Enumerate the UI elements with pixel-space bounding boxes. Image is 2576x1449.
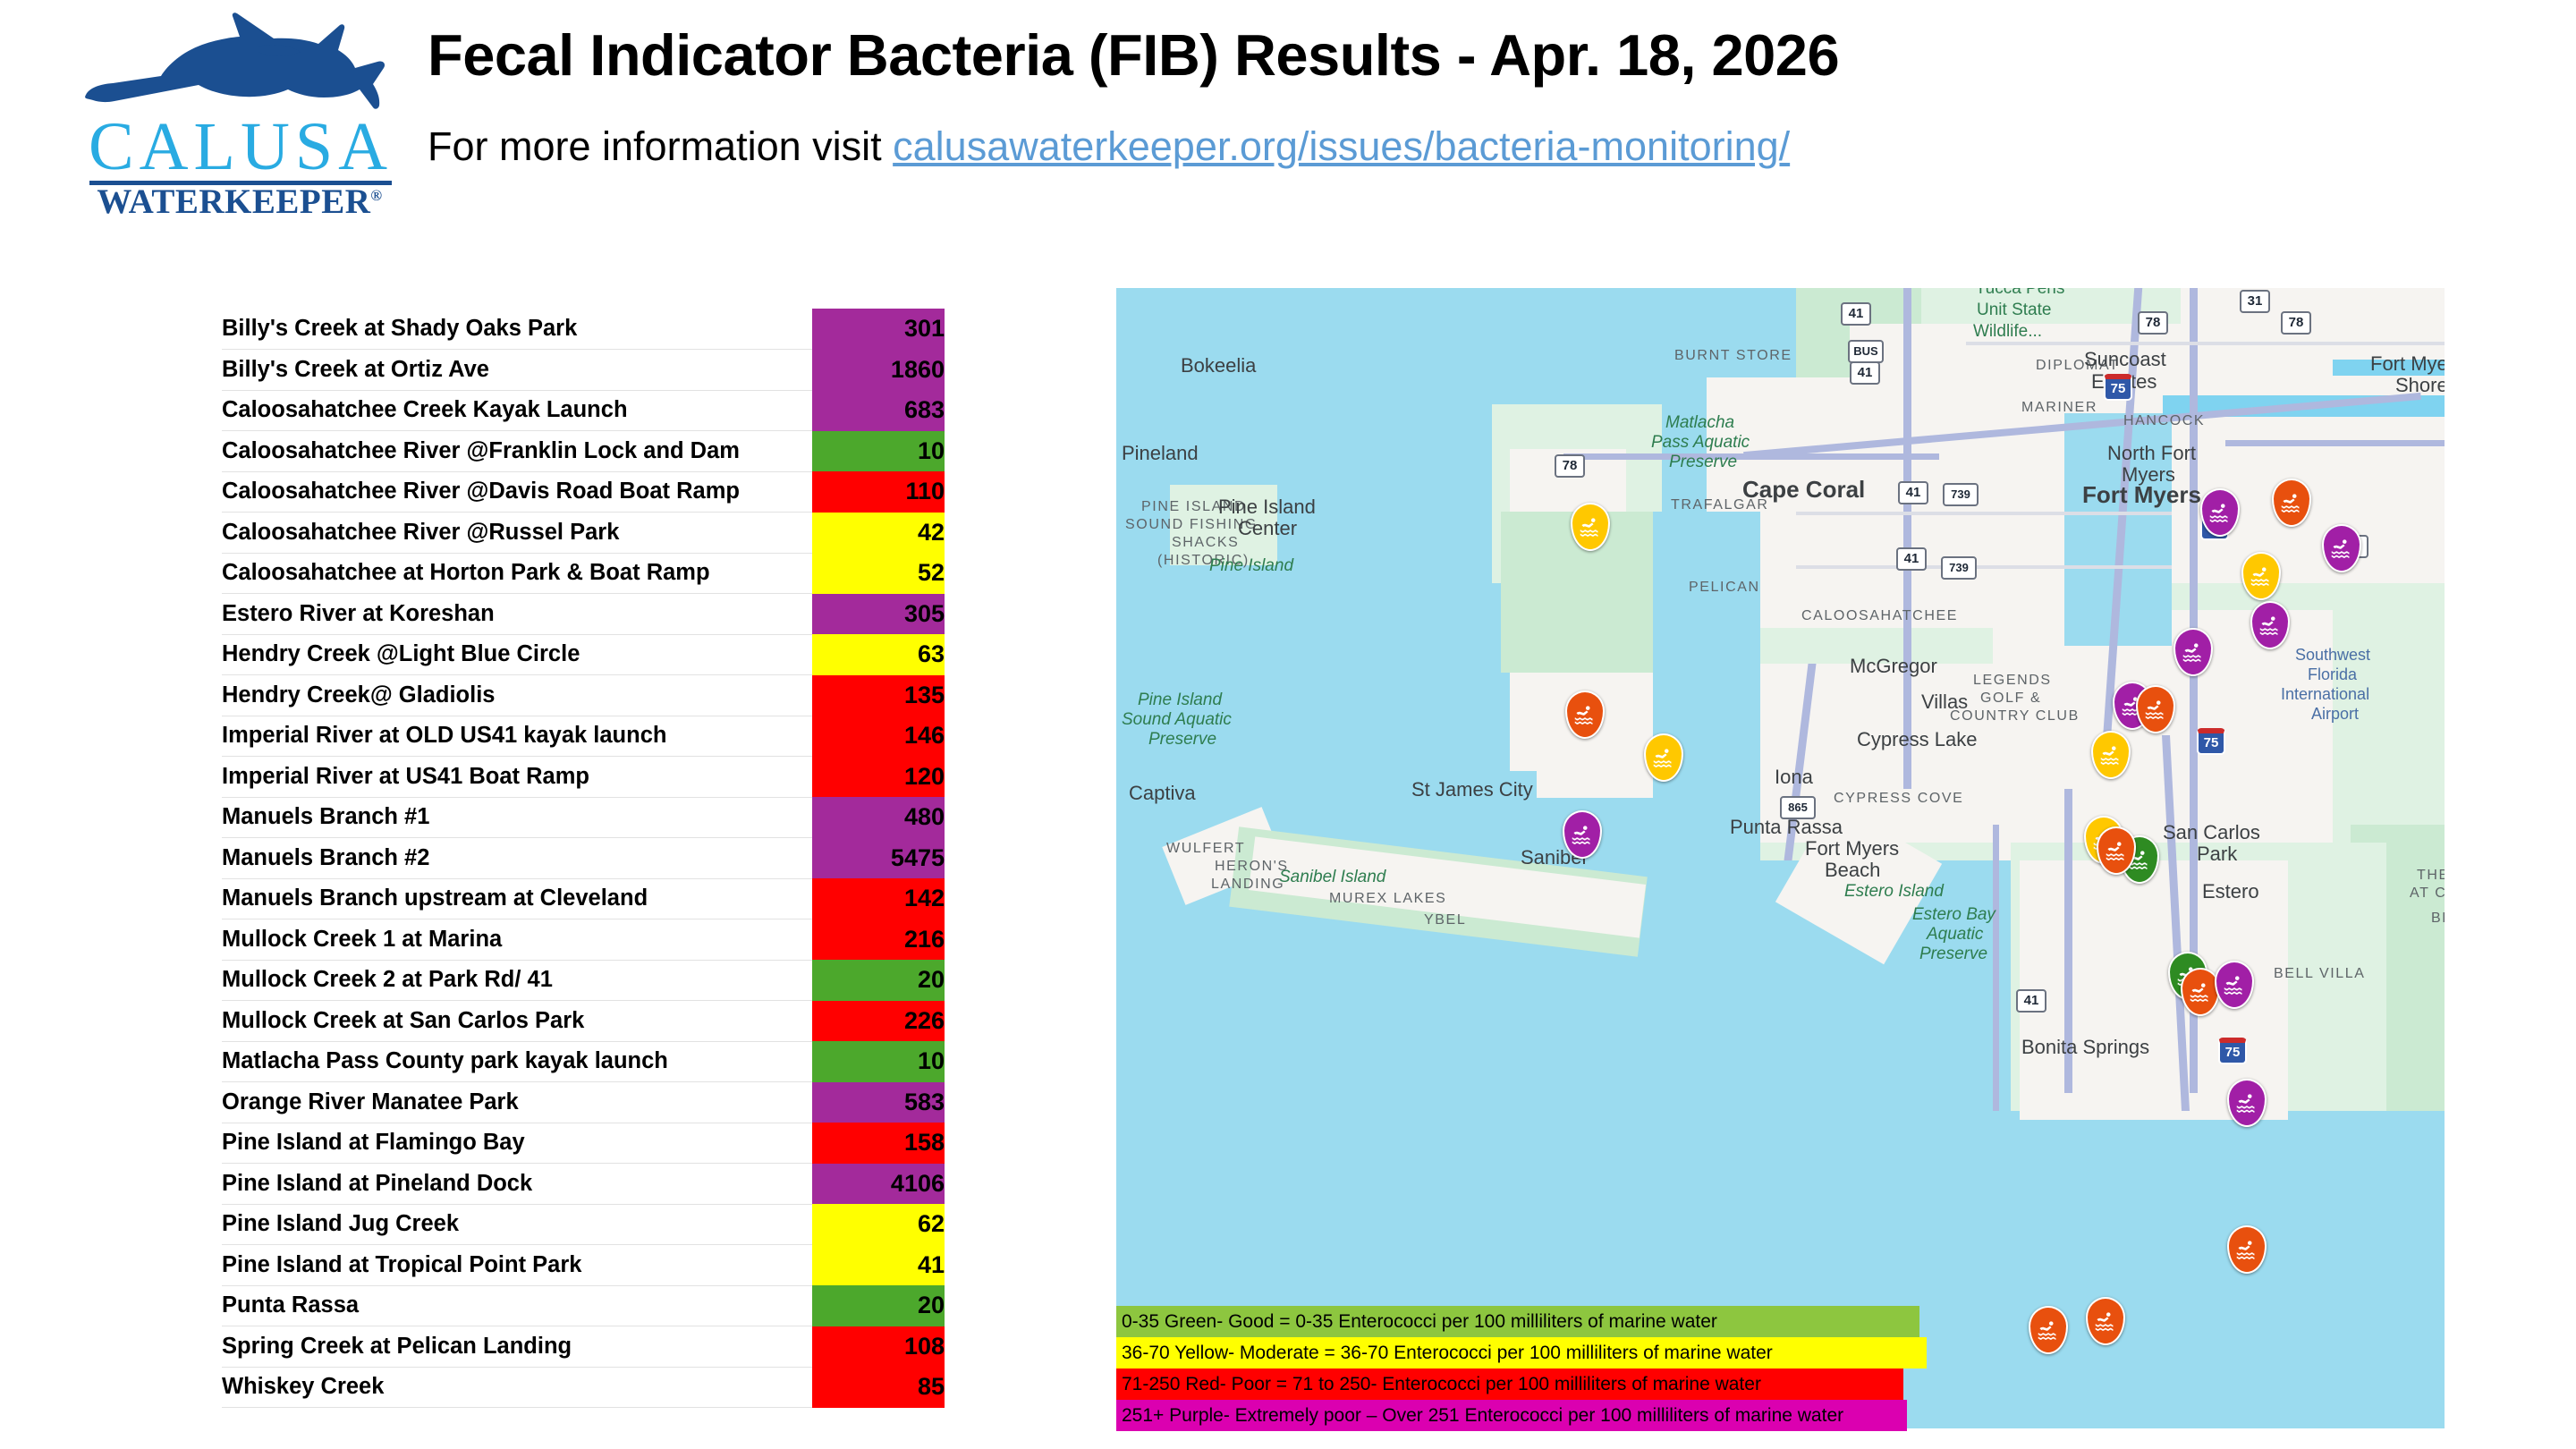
site-value: 120 — [812, 757, 945, 798]
legend-range: 36-70 — [1122, 1343, 1174, 1363]
site-name: Pine Island at Pineland Dock — [222, 1164, 812, 1205]
fib-results-table: Billy's Creek at Shady Oaks Park301Billy… — [222, 309, 945, 1408]
site-name: Punta Rassa — [222, 1285, 812, 1326]
table-row: Caloosahatchee River @Franklin Lock and … — [222, 431, 945, 472]
highway-shield-icon: 41 — [1898, 481, 1928, 504]
table-row: Billy's Creek at Shady Oaks Park301 — [222, 309, 945, 350]
table-row: Orange River Manatee Park583 — [222, 1082, 945, 1123]
map-label: Preserve — [1148, 730, 1216, 750]
site-name: Mullock Creek 2 at Park Rd/ 41 — [222, 960, 812, 1001]
site-value: 20 — [812, 960, 945, 1001]
site-name: Manuels Branch upstream at Cleveland — [222, 878, 812, 919]
site-value: 216 — [812, 919, 945, 961]
legend-range: 251+ — [1122, 1405, 1169, 1426]
map-label: Matlacha — [1665, 413, 1734, 433]
map-label: Wildlife... — [1973, 322, 2042, 342]
highway-shield-icon: 75 — [2218, 1038, 2247, 1064]
table-row: Hendry Creek @Light Blue Circle63 — [222, 634, 945, 675]
site-value: 683 — [812, 390, 945, 431]
site-name: Caloosahatchee Creek Kayak Launch — [222, 390, 812, 431]
map-label: THE PRESERVE — [2417, 868, 2445, 884]
map-label: Suncoast — [2084, 348, 2166, 371]
map-label: CYPRESS COVE — [1834, 791, 1963, 807]
map-label: BELLA TERRA — [2431, 911, 2445, 927]
map-label: SHACKS — [1172, 535, 1239, 551]
site-name: Billy's Creek at Shady Oaks Park — [222, 309, 812, 350]
site-name: Caloosahatchee River @Russel Park — [222, 513, 812, 554]
map-label: MUREX LAKES — [1329, 891, 1446, 907]
map-label: Pine Island — [1218, 496, 1316, 519]
site-name: Pine Island at Flamingo Bay — [222, 1123, 812, 1164]
map-label: Center — [1238, 517, 1297, 540]
table-row: Pine Island at Pineland Dock4106 — [222, 1164, 945, 1205]
map-label: GOLF & — [1980, 691, 2041, 707]
map-label: Southwest — [2295, 646, 2370, 665]
highway-shield-icon: 75 — [2197, 728, 2225, 755]
site-value: 583 — [812, 1082, 945, 1123]
legend-text: Purple- Extremely poor – Over 251 Entero… — [1169, 1405, 1843, 1426]
legend-text: Green- Good = 0-35 Enterococci per 100 m… — [1165, 1311, 1717, 1332]
table-row: Matlacha Pass County park kayak launch10 — [222, 1041, 945, 1082]
table-row: Billy's Creek at Ortiz Ave1860 — [222, 350, 945, 391]
site-value: 5475 — [812, 838, 945, 879]
page-header: CALUSA WATERKEEPER® Fecal Indicator Bact… — [0, 0, 2576, 224]
legend-row: 251+ Purple- Extremely poor – Over 251 E… — [1116, 1400, 1907, 1431]
highway-shield-icon: 41 — [1850, 361, 1880, 385]
registered-mark: ® — [370, 187, 382, 204]
table-row: Mullock Creek 2 at Park Rd/ 4120 — [222, 960, 945, 1001]
map-label: San Carlos — [2163, 821, 2260, 844]
map-label: TRAFALGAR — [1671, 497, 1769, 513]
logo-waterkeeper-text: WATERKEEPER® — [82, 184, 397, 219]
legend-text: Yellow- Moderate = 36-70 Enterococci per… — [1174, 1343, 1773, 1363]
site-value: 301 — [812, 309, 945, 350]
highway-shield-icon: 78 — [2138, 311, 2168, 335]
map-label: International — [2281, 685, 2369, 704]
map-label: Fort Myers — [2370, 352, 2445, 376]
site-value: 63 — [812, 634, 945, 675]
map-marker-purple[interactable] — [1563, 810, 1602, 859]
table-row: Caloosahatchee River @Davis Road Boat Ra… — [222, 471, 945, 513]
site-name: Orange River Manatee Park — [222, 1082, 812, 1123]
table-row: Hendry Creek@ Gladiolis135 — [222, 675, 945, 716]
site-name: Manuels Branch #2 — [222, 838, 812, 879]
map-label: COUNTRY CLUB — [1950, 708, 2080, 724]
table-row: Caloosahatchee Creek Kayak Launch683 — [222, 390, 945, 431]
page-title: Fecal Indicator Bacteria (FIB) Results -… — [428, 21, 1839, 89]
site-value: 146 — [812, 716, 945, 757]
site-name: Mullock Creek at San Carlos Park — [222, 1001, 812, 1042]
map-label: HERON'S — [1215, 859, 1289, 875]
map-label: Estero Island — [1844, 882, 1944, 902]
map-label: Yucca Pens — [1975, 288, 2064, 299]
highway-shield-icon: 41 — [1841, 302, 1871, 326]
highway-shield-icon: 31 — [2240, 290, 2270, 313]
map-label: Preserve — [1919, 945, 1987, 964]
site-name: Spring Creek at Pelican Landing — [222, 1326, 812, 1368]
table-row: Pine Island Jug Creek62 — [222, 1204, 945, 1245]
map-label: Estero Bay — [1912, 905, 1996, 925]
site-name: Imperial River at OLD US41 kayak launch — [222, 716, 812, 757]
map-label: Preserve — [1669, 453, 1737, 472]
legend-row: 71-250 Red- Poor = 71 to 250- Enterococc… — [1116, 1368, 1903, 1400]
map-label: BURNT STORE — [1674, 348, 1792, 364]
map-label: HANCOCK — [2123, 413, 2205, 429]
map-label: North Fort — [2107, 442, 2196, 465]
map-label: Pass Aquatic — [1651, 433, 1750, 453]
subtitle-prefix: For more information visit — [428, 123, 893, 169]
map-label: St James City — [1411, 778, 1533, 801]
site-name: Billy's Creek at Ortiz Ave — [222, 350, 812, 391]
site-value: 41 — [812, 1245, 945, 1286]
legend-row: 36-70 Yellow- Moderate = 36-70 Enterococ… — [1116, 1337, 1927, 1368]
sampling-sites-map[interactable]: Yucca PensUnit StateWildlife...BURNT STO… — [1116, 288, 2445, 1428]
map-label: Florida — [2308, 665, 2357, 684]
highway-shield-icon: 739 — [1943, 483, 1979, 506]
map-marker-red[interactable] — [2086, 1297, 2125, 1345]
site-value: 135 — [812, 675, 945, 716]
table-row: Pine Island at Flamingo Bay158 — [222, 1123, 945, 1164]
site-value: 480 — [812, 797, 945, 838]
map-label: Pineland — [1122, 442, 1199, 465]
site-name: Whiskey Creek — [222, 1367, 812, 1408]
map-label: Estero — [2202, 880, 2259, 903]
map-label: AT CORKSCREW — [2410, 885, 2445, 902]
site-name: Mullock Creek 1 at Marina — [222, 919, 812, 961]
table-row: Mullock Creek at San Carlos Park226 — [222, 1001, 945, 1042]
map-marker-red[interactable] — [2227, 1225, 2267, 1274]
site-value: 108 — [812, 1326, 945, 1368]
legend-row: 0-35 Green- Good = 0-35 Enterococci per … — [1116, 1306, 1919, 1337]
site-value: 85 — [812, 1367, 945, 1408]
highway-shield-icon: 78 — [1555, 454, 1585, 478]
site-name: Manuels Branch #1 — [222, 797, 812, 838]
map-label: LEGENDS — [1973, 673, 2052, 689]
map-label: McGregor — [1850, 655, 1937, 678]
map-label: Pine Island — [1209, 556, 1293, 576]
logo-calusa-text: CALUSA — [84, 113, 397, 181]
map-label: Airport — [2311, 705, 2359, 724]
map-legend: 0-35 Green- Good = 0-35 Enterococci per … — [1116, 1306, 1927, 1431]
map-label: CALOOSAHATCHEE — [1801, 608, 1958, 624]
table-row: Whiskey Creek85 — [222, 1367, 945, 1408]
map-label: Captiva — [1129, 782, 1196, 805]
map-label: LANDING — [1211, 877, 1284, 893]
site-value: 1860 — [812, 350, 945, 391]
site-value: 52 — [812, 553, 945, 594]
map-label: Beach — [1825, 859, 1880, 882]
highway-shield-icon: 41 — [2016, 989, 2046, 1013]
site-name: Matlacha Pass County park kayak launch — [222, 1041, 812, 1082]
site-value: 62 — [812, 1204, 945, 1245]
subtitle: For more information visit calusawaterke… — [428, 123, 1790, 170]
calusa-waterkeeper-logo: CALUSA WATERKEEPER® — [64, 13, 415, 202]
table-row: Punta Rassa20 — [222, 1285, 945, 1326]
map-label: WULFERT — [1166, 841, 1245, 857]
map-label: Cypress Lake — [1857, 728, 1978, 751]
table-row: Pine Island at Tropical Point Park41 — [222, 1245, 945, 1286]
highway-shield-icon: 865 — [1780, 796, 1816, 819]
site-name: Pine Island at Tropical Point Park — [222, 1245, 812, 1286]
site-name: Estero River at Koreshan — [222, 594, 812, 635]
map-label: Fort Myers — [2082, 481, 2201, 509]
legend-range: 0-35 — [1122, 1311, 1165, 1332]
site-name: Caloosahatchee River @Franklin Lock and … — [222, 431, 812, 472]
map-label: Sanibel Island — [1279, 868, 1385, 887]
map-label: Bonita Springs — [2021, 1036, 2149, 1059]
site-value: 10 — [812, 431, 945, 472]
map-label: YBEL — [1424, 912, 1466, 928]
table-row: Manuels Branch #25475 — [222, 838, 945, 879]
map-label: MARINER — [2021, 400, 2097, 416]
sawfish-icon — [82, 13, 404, 118]
map-label: Bokeelia — [1181, 354, 1256, 377]
site-value: 10 — [812, 1041, 945, 1082]
table-row: Manuels Branch #1480 — [222, 797, 945, 838]
site-value: 4106 — [812, 1164, 945, 1205]
site-name: Caloosahatchee River @Davis Road Boat Ra… — [222, 471, 812, 513]
table-row: Manuels Branch upstream at Cleveland142 — [222, 878, 945, 919]
highway-shield-icon: 75 — [2104, 374, 2132, 401]
highway-shield-icon: 41 — [1896, 547, 1927, 571]
table-row: Imperial River at OLD US41 kayak launch1… — [222, 716, 945, 757]
map-label: BELL VILLA — [2274, 966, 2366, 982]
site-value: 142 — [812, 878, 945, 919]
table-row: Imperial River at US41 Boat Ramp120 — [222, 757, 945, 798]
map-label: Aquatic — [1927, 925, 1983, 945]
map-label: Pine Island — [1138, 691, 1222, 710]
map-label: Unit State — [1977, 301, 2051, 320]
site-value: 110 — [812, 471, 945, 513]
table-row: Estero River at Koreshan305 — [222, 594, 945, 635]
site-name: Caloosahatchee at Horton Park & Boat Ram… — [222, 553, 812, 594]
site-name: Imperial River at US41 Boat Ramp — [222, 757, 812, 798]
map-label: Fort Myers — [1805, 837, 1899, 860]
map-label: Sound Aquatic — [1122, 710, 1232, 730]
site-value: 158 — [812, 1123, 945, 1164]
table-row: Spring Creek at Pelican Landing108 — [222, 1326, 945, 1368]
map-label: Shores — [2395, 374, 2445, 397]
highway-shield-icon: BUS — [1848, 340, 1884, 363]
site-name: Pine Island Jug Creek — [222, 1204, 812, 1245]
site-name: Hendry Creek@ Gladiolis — [222, 675, 812, 716]
site-value: 305 — [812, 594, 945, 635]
bacteria-monitoring-link[interactable]: calusawaterkeeper.org/issues/bacteria-mo… — [893, 123, 1790, 169]
legend-range: 71-250 — [1122, 1374, 1185, 1394]
site-name: Hendry Creek @Light Blue Circle — [222, 634, 812, 675]
site-value: 42 — [812, 513, 945, 554]
table-row: Mullock Creek 1 at Marina216 — [222, 919, 945, 961]
legend-text: Red- Poor = 71 to 250- Enterococci per 1… — [1185, 1374, 1761, 1394]
table-row: Caloosahatchee at Horton Park & Boat Ram… — [222, 553, 945, 594]
map-label: Park — [2197, 843, 2237, 866]
site-value: 226 — [812, 1001, 945, 1042]
highway-shield-icon: 739 — [1941, 556, 1977, 580]
map-label: Iona — [1775, 766, 1813, 789]
table-row: Caloosahatchee River @Russel Park42 — [222, 513, 945, 554]
map-marker-red[interactable] — [2029, 1306, 2068, 1354]
highway-shield-icon: 78 — [2281, 311, 2311, 335]
site-value: 20 — [812, 1285, 945, 1326]
map-label: PELICAN — [1689, 580, 1760, 596]
